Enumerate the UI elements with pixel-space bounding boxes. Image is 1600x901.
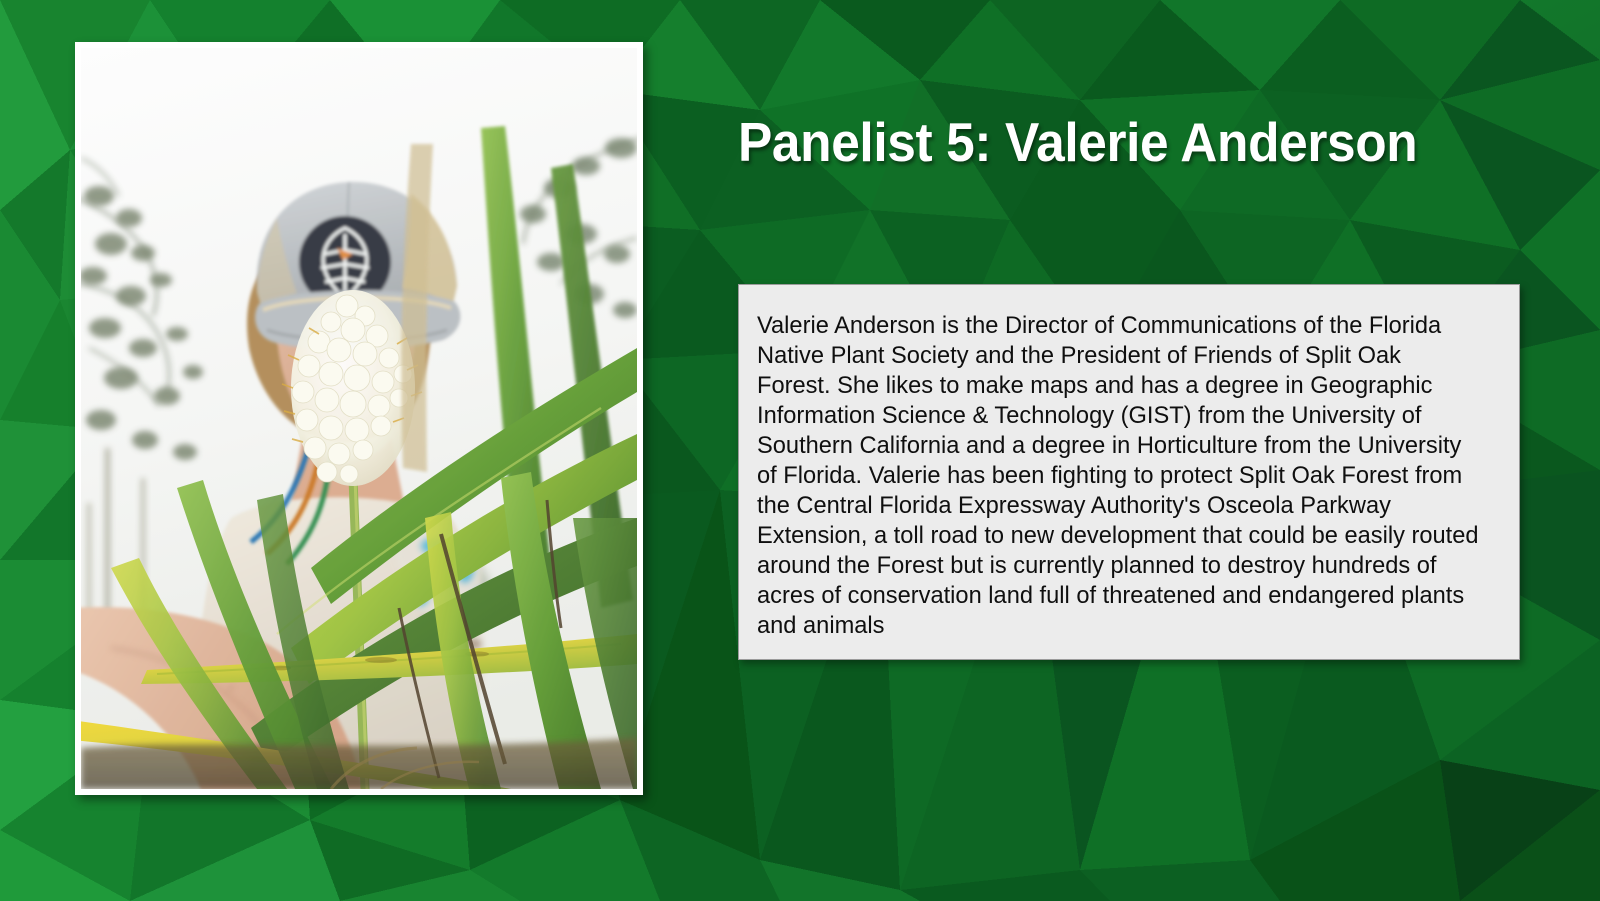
slide-canvas: Panelist 5: Valerie Anderson Valerie And… — [0, 0, 1600, 901]
bio-paragraph: Valerie Anderson is the Director of Comm… — [757, 311, 1479, 641]
panelist-photo-illustration — [81, 48, 637, 789]
panelist-photo — [81, 48, 637, 789]
page-title: Panelist 5: Valerie Anderson — [738, 113, 1486, 172]
bio-text-box: Valerie Anderson is the Director of Comm… — [738, 284, 1520, 660]
panelist-photo-frame — [75, 42, 643, 795]
